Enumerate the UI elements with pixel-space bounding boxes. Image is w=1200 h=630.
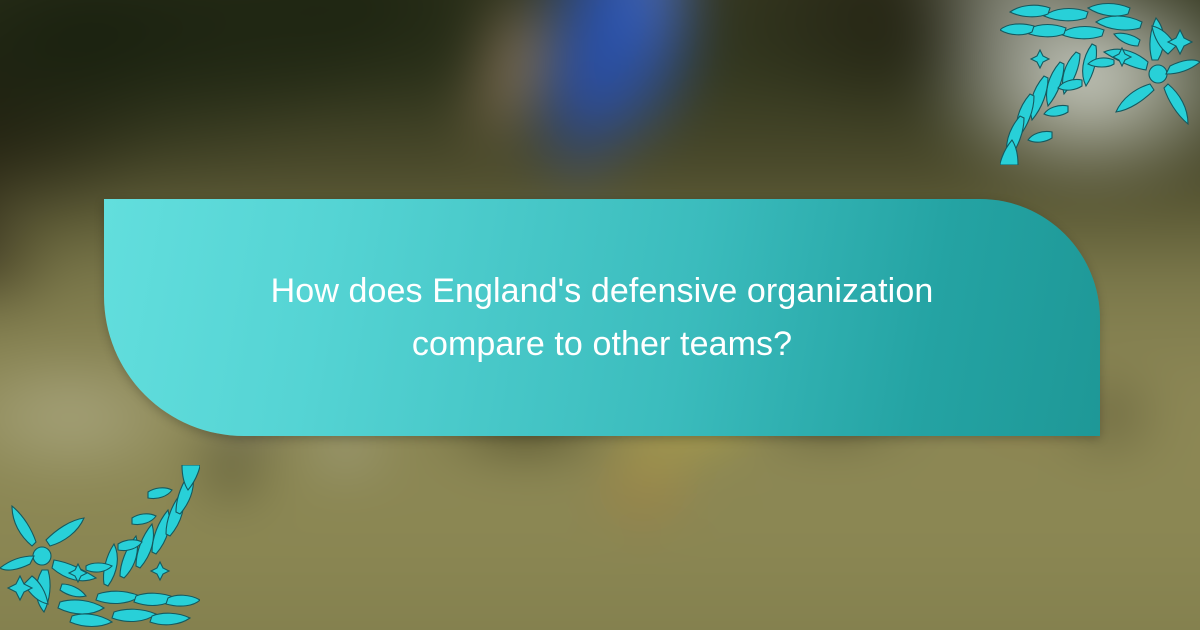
floral-corner-ornament-icon	[0, 465, 200, 630]
floral-corner-ornament-icon	[1000, 0, 1200, 165]
social-card: How does England's defensive organizatio…	[0, 0, 1200, 630]
question-text: How does England's defensive organizatio…	[202, 265, 1002, 370]
question-banner: How does England's defensive organizatio…	[104, 199, 1100, 436]
